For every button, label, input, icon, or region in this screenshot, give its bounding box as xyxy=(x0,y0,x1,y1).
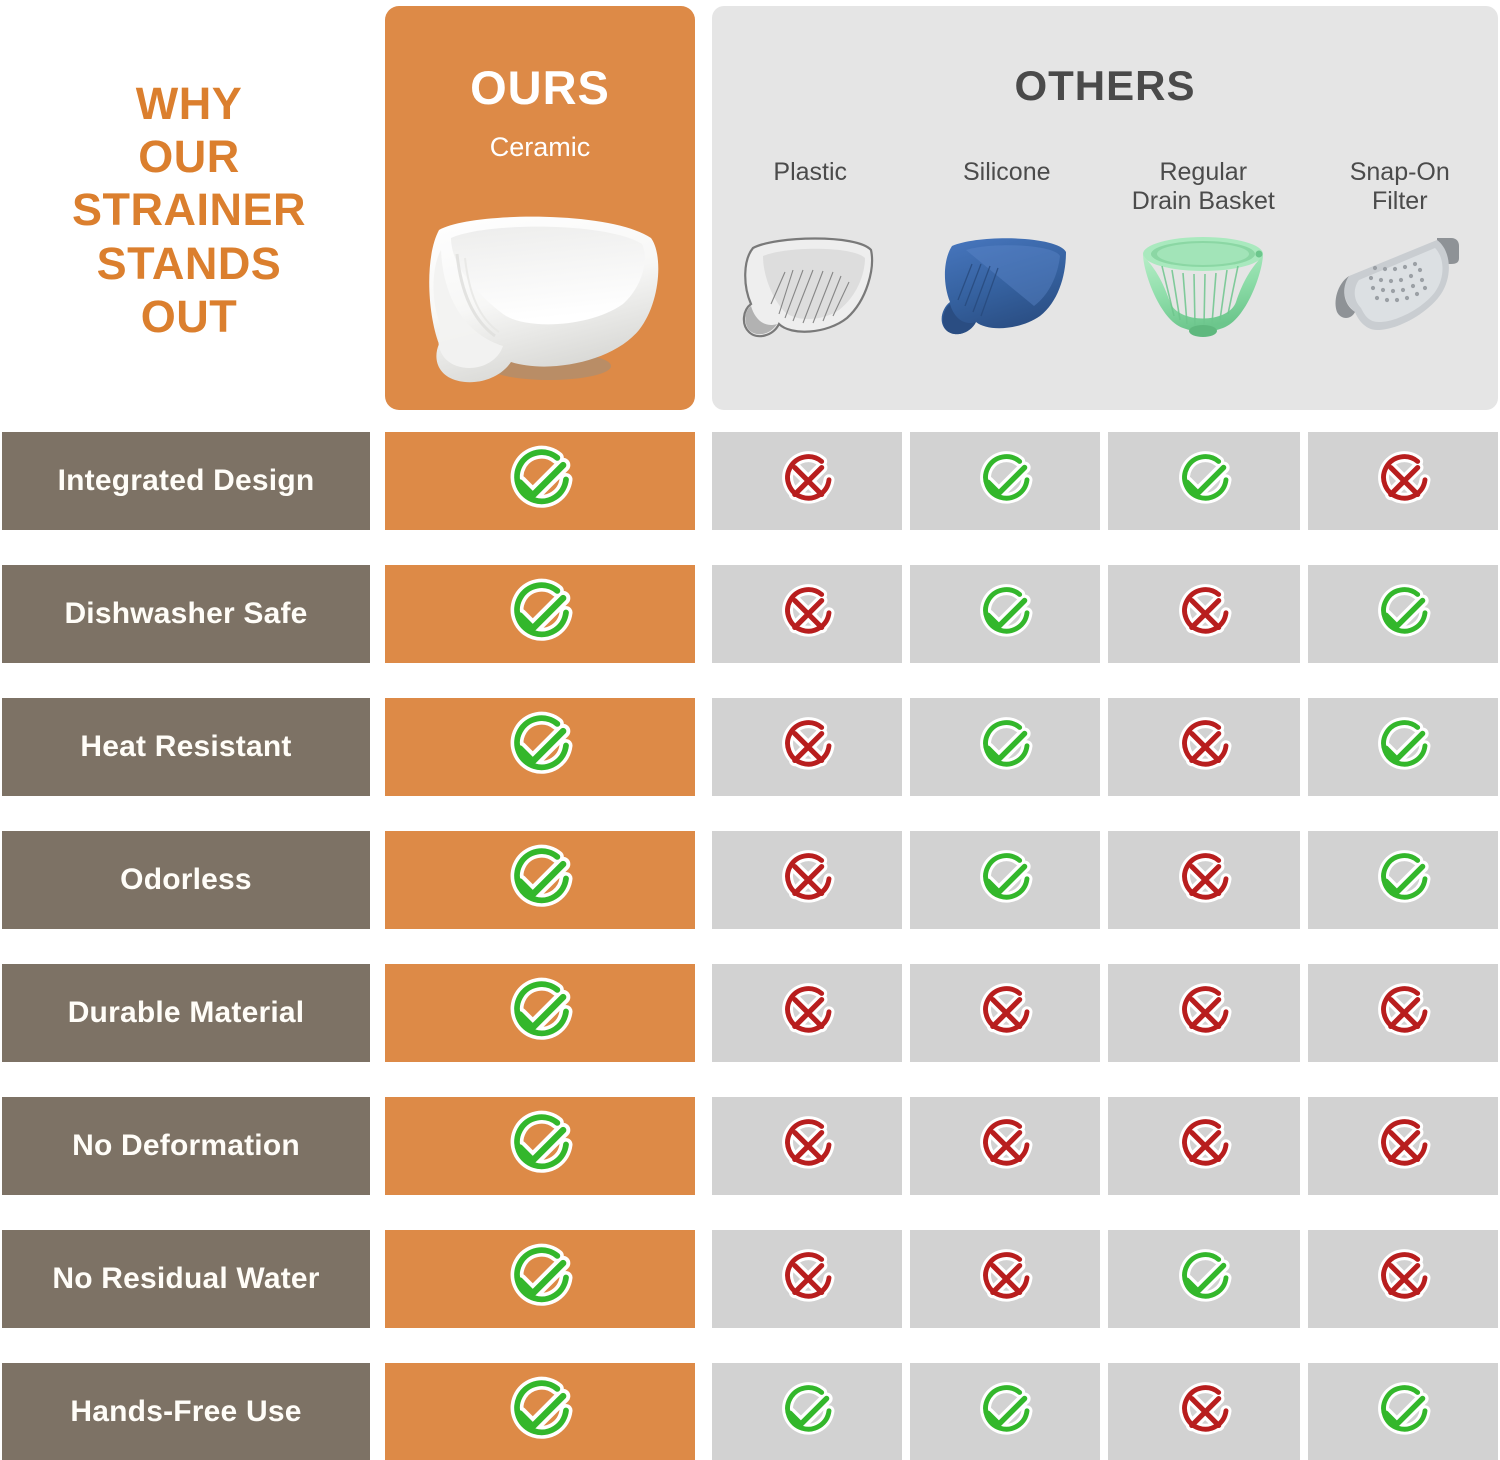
green-check-circle-icon xyxy=(501,708,579,786)
red-x-circle-icon xyxy=(774,1113,840,1179)
ceramic-strainer-icon xyxy=(399,194,681,394)
green-check-circle-icon xyxy=(972,1379,1038,1445)
green-check-circle-icon xyxy=(501,841,579,919)
red-x-circle-icon xyxy=(774,581,840,647)
green-check-circle-icon xyxy=(972,581,1038,647)
red-x-circle-icon xyxy=(1171,980,1237,1046)
other-cell xyxy=(910,432,1100,530)
red-x-circle-icon xyxy=(774,1246,840,1312)
other-cell xyxy=(1308,1097,1498,1195)
others-column-snap-on-filter: Snap-On Filter xyxy=(1302,158,1499,410)
others-column-label: Silicone xyxy=(963,158,1051,218)
others-column-header: OTHERS Plastic xyxy=(712,6,1498,410)
feature-label-text: Dishwasher Safe xyxy=(64,597,307,631)
others-column-label: Plastic xyxy=(773,158,847,218)
feature-label: Dishwasher Safe xyxy=(2,565,370,663)
feature-label-text: Integrated Design xyxy=(58,464,315,498)
red-x-circle-icon xyxy=(1171,581,1237,647)
red-x-circle-icon xyxy=(972,1113,1038,1179)
other-cell xyxy=(712,1363,902,1460)
ours-heading: OURS xyxy=(385,60,695,115)
red-x-circle-icon xyxy=(1171,847,1237,913)
feature-label-text: Durable Material xyxy=(68,996,305,1030)
feature-label: No Residual Water xyxy=(2,1230,370,1328)
other-cell xyxy=(1108,1097,1300,1195)
other-cell xyxy=(910,565,1100,663)
other-cell xyxy=(1308,831,1498,929)
red-x-circle-icon xyxy=(1171,714,1237,780)
other-cell xyxy=(1308,565,1498,663)
other-cell xyxy=(910,1230,1100,1328)
feature-label: No Deformation xyxy=(2,1097,370,1195)
other-cell xyxy=(910,964,1100,1062)
other-cell xyxy=(1108,698,1300,796)
green-check-circle-icon xyxy=(501,1240,579,1318)
feature-label: Odorless xyxy=(2,831,370,929)
table-row: Odorless xyxy=(0,831,1500,929)
other-cell xyxy=(1308,1230,1498,1328)
green-check-circle-icon xyxy=(1370,581,1436,647)
feature-label-text: Heat Resistant xyxy=(80,730,291,764)
green-check-circle-icon xyxy=(1370,714,1436,780)
other-cell xyxy=(712,698,902,796)
table-row: Integrated Design xyxy=(0,432,1500,530)
other-cell xyxy=(1308,432,1498,530)
other-cell xyxy=(712,432,902,530)
other-cell xyxy=(1108,831,1300,929)
ours-cell xyxy=(385,1097,695,1195)
red-x-circle-icon xyxy=(1370,980,1436,1046)
other-cell xyxy=(1308,1363,1498,1460)
other-cell xyxy=(1108,1363,1300,1460)
green-check-circle-icon xyxy=(501,575,579,653)
green-check-circle-icon xyxy=(501,1107,579,1185)
other-cell xyxy=(712,1097,902,1195)
other-cell xyxy=(712,964,902,1062)
others-column-label-line2: Filter xyxy=(1372,187,1428,215)
green-check-circle-icon xyxy=(1370,1379,1436,1445)
red-x-circle-icon xyxy=(1171,1113,1237,1179)
green-check-circle-icon xyxy=(501,1373,579,1451)
other-cell xyxy=(910,1097,1100,1195)
red-x-circle-icon xyxy=(1370,448,1436,514)
others-column-label: Snap-On Filter xyxy=(1350,158,1450,218)
ours-cell xyxy=(385,432,695,530)
others-column-silicone: Silicone xyxy=(909,158,1106,410)
red-x-circle-icon xyxy=(972,980,1038,1046)
other-cell xyxy=(1108,1230,1300,1328)
other-cell xyxy=(712,1230,902,1328)
ours-cell xyxy=(385,831,695,929)
ours-cell xyxy=(385,698,695,796)
feature-label: Durable Material xyxy=(2,964,370,1062)
others-column-regular-drain-basket: Regular Drain Basket xyxy=(1105,158,1302,410)
red-x-circle-icon xyxy=(774,847,840,913)
green-check-circle-icon xyxy=(501,442,579,520)
feature-label-text: Hands-Free Use xyxy=(70,1395,301,1429)
others-column-label-line1: Regular xyxy=(1159,158,1247,186)
other-cell xyxy=(1108,565,1300,663)
green-check-circle-icon xyxy=(774,1379,840,1445)
red-x-circle-icon xyxy=(774,980,840,1046)
ours-cell xyxy=(385,964,695,1062)
clear-plastic-strainer-icon xyxy=(735,224,885,346)
ours-cell xyxy=(385,565,695,663)
other-cell xyxy=(910,831,1100,929)
others-column-label-line2: Drain Basket xyxy=(1132,187,1275,215)
others-column-list: Plastic Silicone xyxy=(712,158,1498,410)
red-x-circle-icon xyxy=(1370,1246,1436,1312)
table-row: No Residual Water xyxy=(0,1230,1500,1328)
green-drain-basket-icon xyxy=(1128,224,1278,346)
others-column-label-line1: Snap-On xyxy=(1350,158,1450,186)
table-row: No Deformation xyxy=(0,1097,1500,1195)
table-row: Dishwasher Safe xyxy=(0,565,1500,663)
red-x-circle-icon xyxy=(972,1246,1038,1312)
green-check-circle-icon xyxy=(1171,1246,1237,1312)
ours-column-header: OURS Ceramic xyxy=(385,6,695,410)
other-cell xyxy=(1108,432,1300,530)
others-column-plastic: Plastic xyxy=(712,158,909,410)
red-x-circle-icon xyxy=(774,714,840,780)
red-x-circle-icon xyxy=(774,448,840,514)
blue-silicone-strainer-icon xyxy=(932,224,1082,346)
comparison-chart: WHYOURSTRAINERSTANDSOUT OURS Ceramic xyxy=(0,0,1500,1460)
other-cell xyxy=(910,698,1100,796)
feature-label-text: Odorless xyxy=(120,863,252,897)
other-cell xyxy=(1108,964,1300,1062)
green-check-circle-icon xyxy=(501,974,579,1052)
feature-label: Integrated Design xyxy=(2,432,370,530)
green-check-circle-icon xyxy=(972,847,1038,913)
other-cell xyxy=(1308,698,1498,796)
green-check-circle-icon xyxy=(1171,448,1237,514)
red-x-circle-icon xyxy=(1171,1379,1237,1445)
ours-cell xyxy=(385,1230,695,1328)
page-title: WHYOURSTRAINERSTANDSOUT xyxy=(0,60,378,360)
gray-snap-on-filter-icon xyxy=(1325,224,1475,346)
ours-cell xyxy=(385,1363,695,1460)
feature-label: Hands-Free Use xyxy=(2,1363,370,1460)
green-check-circle-icon xyxy=(972,714,1038,780)
red-x-circle-icon xyxy=(1370,1113,1436,1179)
green-check-circle-icon xyxy=(1370,847,1436,913)
others-column-label: Regular Drain Basket xyxy=(1132,158,1275,218)
feature-label: Heat Resistant xyxy=(2,698,370,796)
feature-label-text: No Deformation xyxy=(72,1129,300,1163)
page-title-text: WHYOURSTRAINERSTANDSOUT xyxy=(72,77,306,342)
other-cell xyxy=(712,565,902,663)
ours-material-label: Ceramic xyxy=(385,132,695,163)
other-cell xyxy=(1308,964,1498,1062)
other-cell xyxy=(910,1363,1100,1460)
table-row: Durable Material xyxy=(0,964,1500,1062)
table-row: Heat Resistant xyxy=(0,698,1500,796)
feature-label-text: No Residual Water xyxy=(52,1262,319,1296)
others-heading: OTHERS xyxy=(712,62,1498,110)
table-row: Hands-Free Use xyxy=(0,1363,1500,1460)
other-cell xyxy=(712,831,902,929)
green-check-circle-icon xyxy=(972,448,1038,514)
